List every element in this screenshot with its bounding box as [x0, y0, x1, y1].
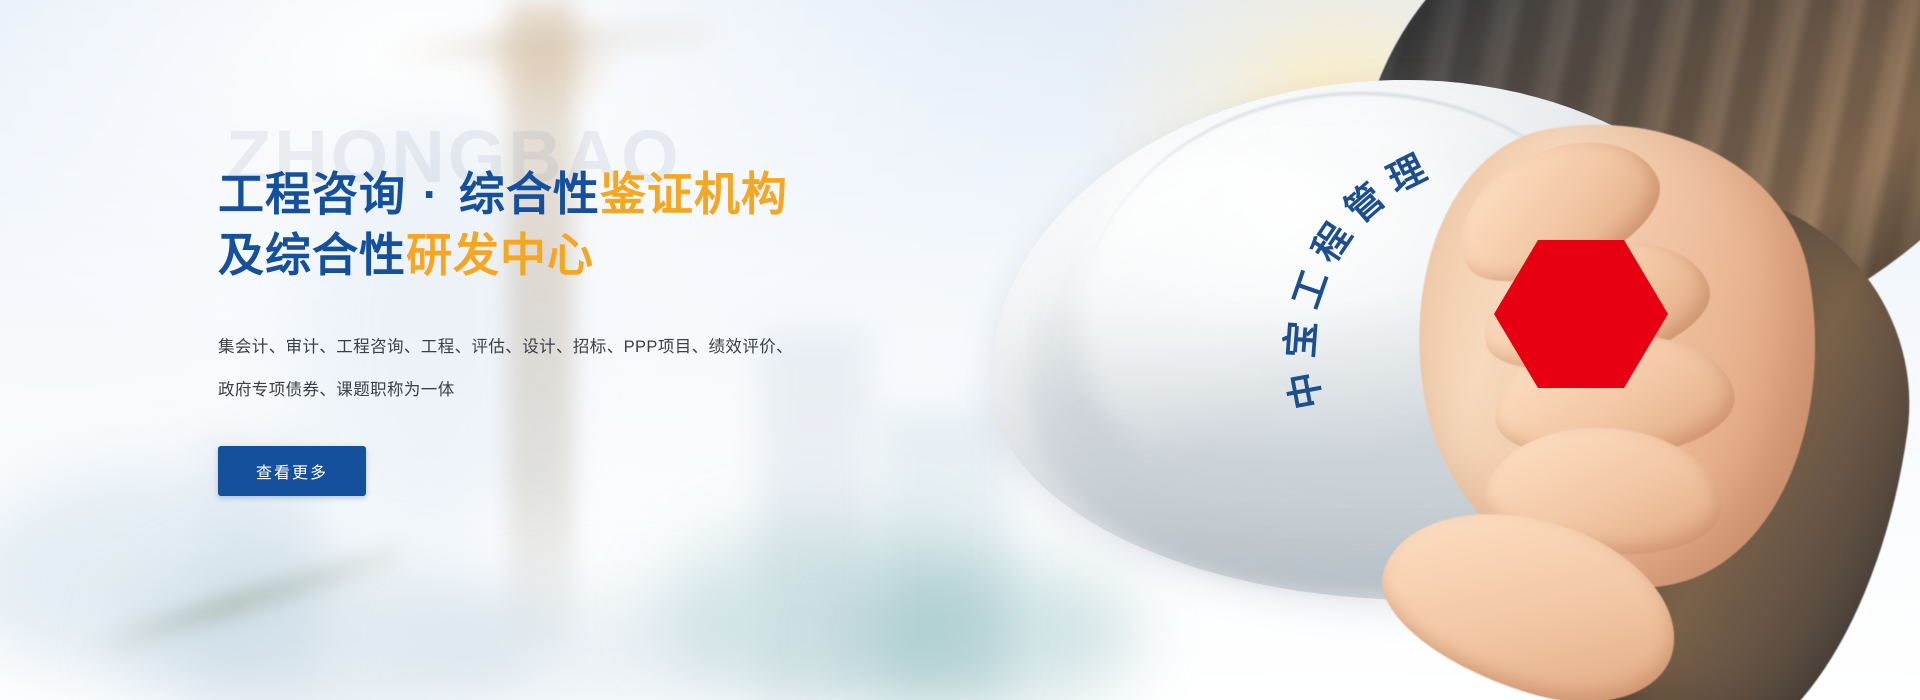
headline-part-1: 工程咨询	[218, 168, 406, 220]
page-title: 工程咨询 · 综合性鉴证机构 及综合性研发中心	[218, 120, 918, 286]
headline-accent-2: 研发中心	[406, 229, 594, 281]
headline-accent-1: 鉴证机构	[600, 168, 788, 220]
view-more-button[interactable]: 查看更多	[218, 446, 366, 496]
hero-copy: ZHONGBAO 工程咨询 · 综合性鉴证机构 及综合性研发中心 集会计、审计、…	[218, 120, 918, 496]
helmet-highlight	[1080, 150, 1380, 480]
headline-line-1: 工程咨询 · 综合性鉴证机构	[218, 168, 788, 220]
hero-banner: 中宝工程管理 ZHONGBAO	[0, 0, 1920, 700]
hand-holding-helmet	[780, 0, 1920, 700]
description-line-2: 政府专项债券、课题职称为一体	[218, 381, 455, 399]
headline-line-2: 及综合性研发中心	[218, 229, 594, 281]
hero-description: 集会计、审计、工程咨询、工程、评估、设计、招标、PPP项目、绩效评价、 政府专项…	[218, 326, 818, 412]
headline-part-3: 及综合性	[218, 229, 406, 281]
headline-part-2: 综合性	[459, 168, 600, 220]
headline-separator: ·	[406, 168, 459, 220]
description-line-1: 集会计、审计、工程咨询、工程、评估、设计、招标、PPP项目、绩效评价、	[218, 338, 793, 356]
